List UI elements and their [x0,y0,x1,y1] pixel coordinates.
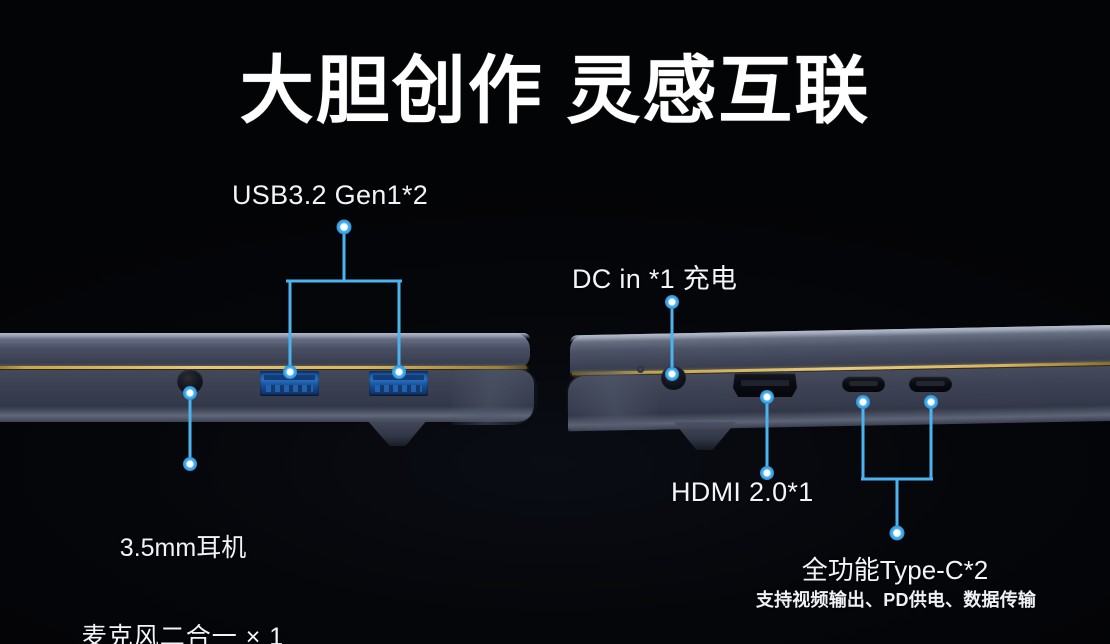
dc-in-port [661,366,686,390]
headphone-jack-port [177,369,203,394]
usb-a-port-1 [260,371,319,396]
hdmi-port [733,373,797,397]
page-title: 大胆创作 灵感互联 [0,52,1110,130]
callout-dot-typec-anchor [890,526,905,541]
callout-label-headphone-line1: 3.5mm耳机 [63,534,303,564]
laptop-left-foot [367,420,427,446]
laptop-right-side-view [566,322,1110,457]
callout-label-dc-in: DC in *1 充电 [572,257,737,296]
type-c-port-2 [909,376,952,392]
product-feature-banner: 大胆创作 灵感互联 [0,0,1110,644]
callout-label-typec: 全功能Type-C*2 [735,550,1055,587]
callout-label-headphone: 3.5mm耳机 麦克风二合一 × 1 [63,475,303,644]
callout-dot-headphone-label [183,457,197,471]
reset-pinhole [637,366,644,373]
usb-a-port-2 [369,371,428,396]
callout-dot-usb-anchor [337,220,352,235]
laptop-left-gold-accent-line [0,366,527,369]
callout-dot-dc-in-label [665,295,679,309]
laptop-right-edge-taper [566,372,658,430]
callout-label-hdmi: HDMI 2.0*1 [671,477,814,508]
laptop-left-edge-taper [452,369,538,425]
callout-label-usb: USB3.2 Gen1*2 [232,180,428,211]
callout-label-headphone-line2: 麦克风二合一 × 1 [63,623,303,644]
callout-sublabel-typec: 支持视频输出、PD供电、数据传输 [720,586,1072,612]
laptop-left-lid [0,333,530,369]
laptop-right-foot [674,422,736,450]
type-c-port-1 [842,376,885,392]
